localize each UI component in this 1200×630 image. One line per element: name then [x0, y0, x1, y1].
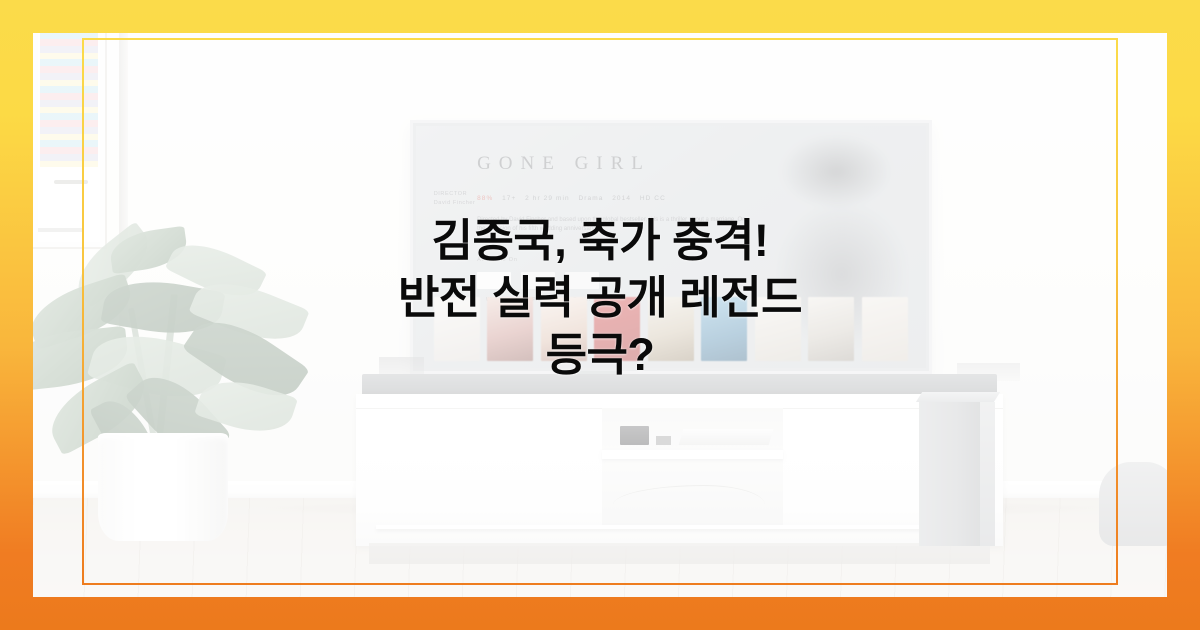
tv-meta-row: 88% 17+ 2 hr 29 min Drama 2014 HD CC [477, 195, 666, 202]
tv-score: 88% [477, 195, 493, 202]
tv-play-button [521, 272, 555, 289]
console-plinth [369, 543, 990, 564]
tv-poster-thumb [434, 297, 480, 361]
wall-artwork-frame [33, 33, 105, 247]
floor-speaker [919, 400, 980, 547]
tv-director-name: David Fincher [434, 200, 476, 206]
tv-poster-thumb [755, 297, 801, 361]
console-lip [376, 525, 984, 530]
console-top-surface [356, 394, 1002, 408]
tv-year: 2014 [612, 195, 631, 202]
tv-description: Directed by David Fincher and based upon… [477, 216, 752, 235]
tv-trailer-button [565, 272, 599, 289]
plant-pot [98, 433, 228, 540]
tv-poster-thumb [862, 297, 908, 361]
potted-plant [33, 225, 317, 541]
background-photo: GONE GIRL DIRECTOR David Fincher 88% 17+… [33, 33, 1167, 597]
tv-director-label: DIRECTOR [434, 191, 467, 197]
television: GONE GIRL DIRECTOR David Fincher 88% 17+… [413, 123, 929, 371]
tv-screen: GONE GIRL DIRECTOR David Fincher 88% 17+… [416, 126, 926, 368]
artwork-mat [38, 33, 100, 242]
tv-poster-thumb [648, 297, 694, 361]
tv-duration: 2 hr 29 min [525, 195, 570, 202]
tv-genre: Drama [578, 195, 603, 202]
tv-poster-thumb [701, 297, 747, 361]
tv-poster-thumb [541, 297, 587, 361]
console-cable [613, 485, 765, 505]
tv-badges: HD CC [640, 195, 666, 202]
tv-poster-thumb [808, 297, 854, 361]
tv-movie-title: GONE GIRL [477, 153, 651, 175]
tv-available-on-label: Available On [477, 257, 518, 263]
stool [1099, 462, 1167, 547]
tv-button-row [477, 272, 599, 289]
tv-poster-thumb [594, 297, 640, 361]
console-shelf [602, 450, 783, 459]
console-device [620, 426, 649, 445]
tv-rating: 17+ [502, 195, 516, 202]
tv-watch-button [477, 272, 511, 289]
artwork-stripes [40, 33, 98, 167]
tv-poster-row [434, 289, 908, 362]
speaker-side [980, 402, 995, 546]
console-open-compartment [602, 408, 783, 525]
console-device-small [656, 436, 670, 445]
tv-director-block: DIRECTOR David Fincher [434, 190, 476, 207]
thumbnail-card: GONE GIRL DIRECTOR David Fincher 88% 17+… [0, 0, 1200, 630]
tv-poster-thumb [487, 297, 533, 361]
tv-console [356, 394, 1002, 546]
artwork-signature [54, 180, 88, 184]
console-laptop [679, 429, 774, 445]
